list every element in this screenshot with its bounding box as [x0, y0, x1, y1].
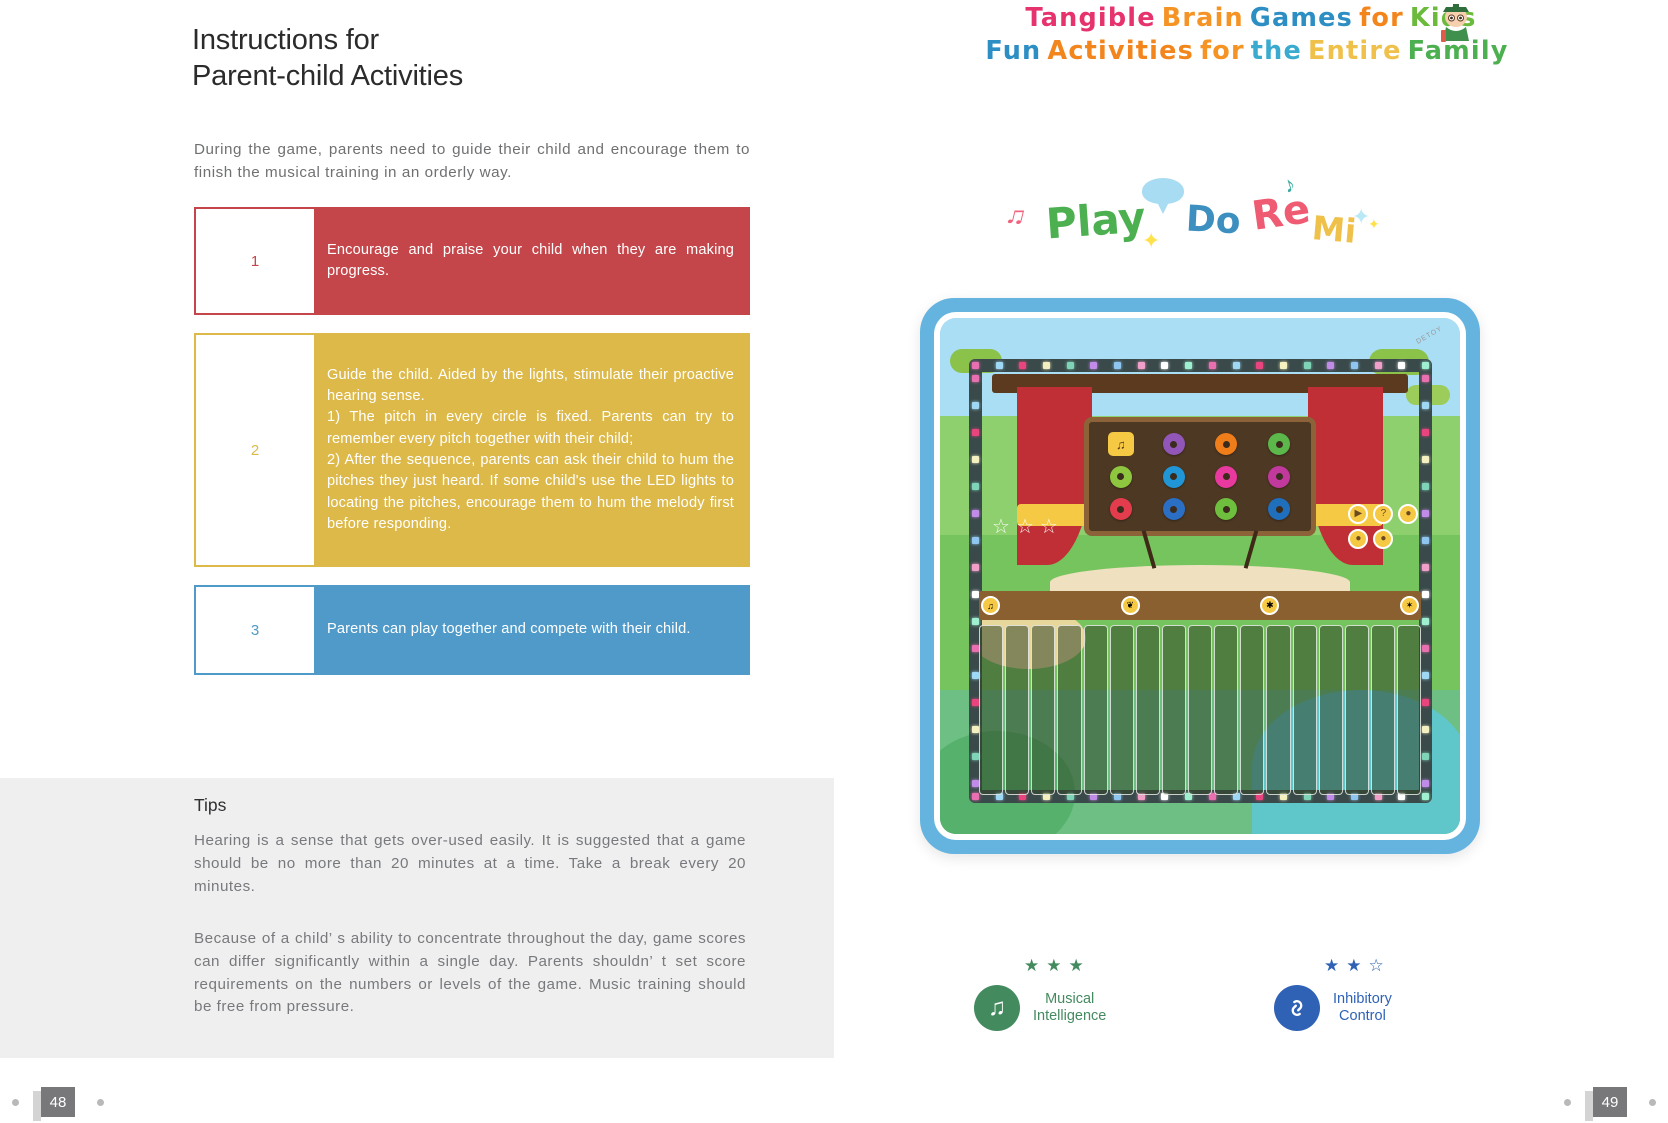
- child2-icon[interactable]: ●: [1373, 529, 1393, 549]
- instruction-row-3: 3 Parents can play together and compete …: [194, 585, 750, 675]
- pitch-disc[interactable]: [1215, 466, 1237, 488]
- led-light: [1422, 362, 1429, 369]
- tips-block: Tips Hearing is a sense that gets over-u…: [0, 778, 834, 1058]
- piano-key[interactable]: [1136, 625, 1160, 795]
- star-filled-icon: ★: [1324, 956, 1339, 976]
- easel-legs: [1133, 530, 1266, 569]
- footer-dot: [97, 1099, 104, 1106]
- led-light: [1090, 362, 1097, 369]
- led-light: [1422, 456, 1429, 463]
- stars-musical-intelligence: ★★★: [1024, 956, 1084, 976]
- instruction-text-2: Guide the child. Aided by the lights, st…: [314, 335, 748, 565]
- page-title-line-2: Parent-child Activities: [192, 59, 463, 95]
- brand-word: Games: [1250, 2, 1353, 35]
- piano-key[interactable]: [1214, 625, 1238, 795]
- pitch-disc[interactable]: [1215, 433, 1237, 455]
- piano-key[interactable]: [1266, 625, 1290, 795]
- logo-word-play: Play: [1044, 193, 1147, 249]
- speech-cloud-icon: [1142, 178, 1184, 204]
- led-light: [1422, 618, 1429, 625]
- pitch-disc[interactable]: [1163, 433, 1185, 455]
- led-light: [1138, 362, 1145, 369]
- help-icon[interactable]: ?: [1373, 504, 1393, 524]
- piano-key[interactable]: [1084, 625, 1108, 795]
- bird-token-icon[interactable]: ❦: [1121, 596, 1140, 615]
- led-light: [972, 375, 979, 382]
- led-light: [1422, 510, 1429, 517]
- badge-label-line-2: Control: [1333, 1008, 1392, 1025]
- instruction-paragraph: Parents can play together and compete wi…: [327, 619, 734, 640]
- chain-link-icon: [1274, 985, 1320, 1031]
- led-light: [1067, 362, 1074, 369]
- left-page: Instructions for Parent-child Activities…: [0, 0, 834, 1123]
- footer-dot: [12, 1099, 19, 1106]
- instruction-row-2: 2 Guide the child. Aided by the lights, …: [194, 333, 750, 567]
- led-light: [1422, 429, 1429, 436]
- page-number-right: 49: [1593, 1087, 1627, 1117]
- instruction-number-3: 3: [196, 587, 314, 673]
- pitch-disc[interactable]: [1268, 466, 1290, 488]
- piano-key[interactable]: [1293, 625, 1317, 795]
- brand-word: Activities: [1047, 35, 1194, 68]
- tablet-bezel: ♫ ☆☆☆ ▶?●●● ♫❦✱✶ DETOY: [934, 312, 1466, 840]
- led-light: [1422, 402, 1429, 409]
- tips-heading: Tips: [194, 795, 226, 816]
- stage-area: ♫: [992, 370, 1408, 587]
- brand-word: Tangible: [1025, 2, 1155, 35]
- intro-paragraph: During the game, parents need to guide t…: [194, 138, 750, 184]
- led-light: [1422, 375, 1429, 382]
- star-empty-icon: ☆: [1369, 956, 1384, 976]
- star-filled-icon: ★: [1346, 956, 1361, 976]
- instruction-paragraph: 2) After the sequence, parents can ask t…: [327, 450, 734, 535]
- stage-star-icon: ☆: [1040, 514, 1058, 539]
- piano-key[interactable]: [1110, 625, 1134, 795]
- led-light: [1185, 362, 1192, 369]
- logo-word-do: Do: [1185, 199, 1242, 243]
- music-note-tile-icon[interactable]: ♫: [1108, 432, 1134, 456]
- tablet-screen: ♫ ☆☆☆ ▶?●●● ♫❦✱✶ DETOY: [940, 318, 1460, 834]
- footer-left: 48: [12, 1087, 104, 1117]
- girl-graduate-mascot-icon: [1436, 0, 1476, 44]
- sparkle-yellow-small-icon: ✦: [1368, 216, 1380, 233]
- led-light: [1375, 362, 1382, 369]
- led-light: [1422, 793, 1429, 800]
- led-light: [1422, 726, 1429, 733]
- led-light: [972, 618, 979, 625]
- badge-label-line-1: Inhibitory: [1333, 991, 1392, 1008]
- led-light: [972, 564, 979, 571]
- footer-dot: [1649, 1099, 1656, 1106]
- star-filled-icon: ★: [1046, 956, 1061, 976]
- side-button-panel[interactable]: ▶?●●●: [1348, 504, 1418, 549]
- led-light: [972, 483, 979, 490]
- instruction-paragraph: Guide the child. Aided by the lights, st…: [327, 365, 734, 408]
- led-light: [972, 456, 979, 463]
- horse-token-icon[interactable]: ✶: [1400, 596, 1419, 615]
- child-icon[interactable]: ●: [1348, 529, 1368, 549]
- piano-token-icon[interactable]: ♫: [981, 596, 1000, 615]
- logo-word-re: Re: [1249, 186, 1313, 240]
- tablet-device: ♫ ☆☆☆ ▶?●●● ♫❦✱✶ DETOY: [920, 298, 1480, 854]
- instruction-paragraph: 1) The pitch in every circle is fixed. P…: [327, 407, 734, 450]
- piano-key[interactable]: [979, 625, 1003, 795]
- badge-label-musical: Musical Intelligence: [1033, 991, 1106, 1025]
- pitch-disc[interactable]: [1268, 433, 1290, 455]
- led-light: [1398, 362, 1405, 369]
- led-light: [1019, 362, 1026, 369]
- led-light: [972, 537, 979, 544]
- badge-label-line-2: Intelligence: [1033, 1008, 1106, 1025]
- piano-key[interactable]: [1031, 625, 1055, 795]
- brand-word: the: [1251, 35, 1302, 68]
- badge-label-inhibitory: Inhibitory Control: [1333, 991, 1392, 1025]
- brand-header: TangibleBrainGamesforKids FunActivitiesf…: [834, 2, 1668, 67]
- logo-word-mi: Mi: [1310, 208, 1357, 251]
- stage-star-icon: ☆: [1016, 514, 1034, 539]
- pitch-disc[interactable]: [1215, 498, 1237, 520]
- play-do-re-mi-logo: ♫ ♪ ✦ ✦ ✦ Play Do Re Mi: [994, 168, 1424, 268]
- piano-key[interactable]: [1162, 625, 1186, 795]
- piano-key[interactable]: [1371, 625, 1395, 795]
- music-note-pink-icon: ♫: [1003, 198, 1030, 233]
- led-light: [1161, 362, 1168, 369]
- play-icon[interactable]: ▶: [1348, 504, 1368, 524]
- led-light: [1114, 362, 1121, 369]
- led-light: [1422, 591, 1429, 598]
- led-light: [972, 429, 979, 436]
- piano-key[interactable]: [1005, 625, 1029, 795]
- led-light: [1327, 362, 1334, 369]
- led-light: [1304, 362, 1311, 369]
- pitch-disc[interactable]: [1268, 498, 1290, 520]
- brand-word: for: [1200, 35, 1245, 68]
- piano-key[interactable]: [1319, 625, 1343, 795]
- led-light: [1422, 780, 1429, 787]
- instruction-number-2: 2: [196, 335, 314, 565]
- led-light: [1422, 483, 1429, 490]
- instruction-row-1: 1 Encourage and praise your child when t…: [194, 207, 750, 315]
- instruction-text-3: Parents can play together and compete wi…: [314, 587, 748, 673]
- tips-paragraph-2: Because of a child’ s ability to concent…: [194, 928, 746, 1019]
- brand-line-2: FunActivitiesfortheEntireFamily: [834, 35, 1668, 68]
- footer-dot: [1564, 1099, 1571, 1106]
- instruction-text-1: Encourage and praise your child when the…: [314, 209, 748, 313]
- piano-keys-grid[interactable]: [979, 625, 1421, 795]
- led-light: [1422, 645, 1429, 652]
- brand-line-1: TangibleBrainGamesforKids: [834, 2, 1668, 35]
- star-filled-icon: ★: [1024, 956, 1039, 976]
- piano-key[interactable]: [1345, 625, 1369, 795]
- led-light: [996, 362, 1003, 369]
- led-light: [1256, 362, 1263, 369]
- stars-inhibitory-control: ★★☆: [1324, 956, 1384, 976]
- pitch-disc[interactable]: [1110, 498, 1132, 520]
- stage-star-icon: ☆: [992, 514, 1010, 539]
- cat-token-icon[interactable]: ✱: [1260, 596, 1279, 615]
- led-light: [1209, 362, 1216, 369]
- led-light: [1280, 362, 1287, 369]
- tips-paragraph-1: Hearing is a sense that gets over-used e…: [194, 830, 746, 898]
- badge-label-line-1: Musical: [1033, 991, 1106, 1008]
- led-light: [1351, 362, 1358, 369]
- led-light: [972, 402, 979, 409]
- score-stars: ☆☆☆: [992, 514, 1058, 539]
- led-light: [1422, 564, 1429, 571]
- piano-key[interactable]: [1057, 625, 1081, 795]
- led-light: [1422, 672, 1429, 679]
- footer-right: 49: [1564, 1087, 1656, 1117]
- led-light: [1422, 753, 1429, 760]
- page-number-left: 48: [41, 1087, 75, 1117]
- badge-musical-intelligence: ♫ Musical Intelligence: [974, 985, 1106, 1031]
- animal-token-bar[interactable]: ♫❦✱✶: [979, 591, 1421, 619]
- badge-inhibitory-control: Inhibitory Control: [1274, 985, 1392, 1031]
- star-filled-icon: ★: [1069, 956, 1084, 976]
- brand-word: for: [1359, 2, 1404, 35]
- led-light: [1233, 362, 1240, 369]
- brand-word: Fun: [985, 35, 1041, 68]
- led-light: [972, 362, 979, 369]
- instruction-number-1: 1: [196, 209, 314, 313]
- music-note-icon: ♫: [974, 985, 1020, 1031]
- instruction-paragraph: Encourage and praise your child when the…: [327, 240, 734, 283]
- page-title: Instructions for Parent-child Activities: [192, 23, 463, 95]
- led-light: [1043, 362, 1050, 369]
- pitch-disc[interactable]: [1163, 466, 1185, 488]
- brand-word: Brain: [1162, 2, 1244, 35]
- right-page: TangibleBrainGamesforKids FunActivitiesf…: [834, 0, 1668, 1123]
- brand-word: Entire: [1308, 35, 1402, 68]
- piano-key[interactable]: [1397, 625, 1421, 795]
- led-light: [972, 510, 979, 517]
- led-light: [1422, 699, 1429, 706]
- led-light: [1422, 537, 1429, 544]
- pitch-disc[interactable]: [1163, 498, 1185, 520]
- pitch-disc[interactable]: [1110, 466, 1132, 488]
- chalkboard-disc-grid[interactable]: ♫: [1084, 417, 1317, 536]
- monkey-icon[interactable]: ●: [1398, 504, 1418, 524]
- piano-key[interactable]: [1188, 625, 1212, 795]
- page-title-line-1: Instructions for: [192, 23, 463, 59]
- piano-key[interactable]: [1240, 625, 1264, 795]
